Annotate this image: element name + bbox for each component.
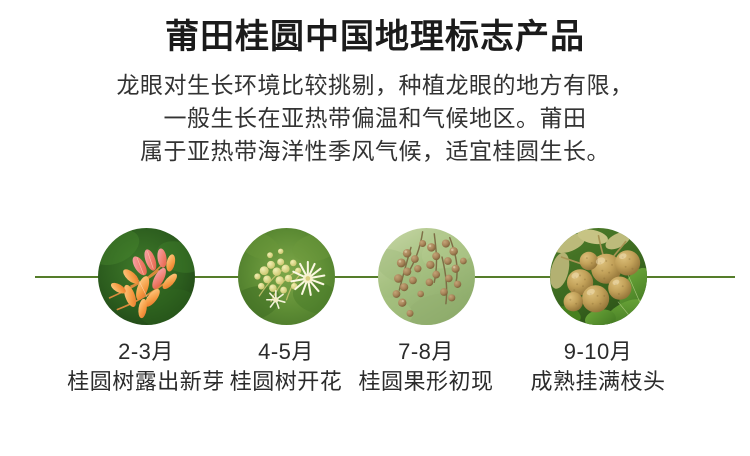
growth-stage-timeline: 2-3月 桂圆树露出新芽: [0, 218, 750, 418]
stage-description-label: 成熟挂满枝头: [498, 367, 698, 397]
stage-description-label: 桂圆果形初现: [326, 367, 526, 397]
longan-new-sprouts-photo: [98, 228, 195, 325]
intro-line-1: 龙眼对生长环境比较挑剔，种植龙眼的地方有限，: [0, 69, 750, 102]
longan-young-fruit-photo: [378, 228, 475, 325]
timeline-stage-3: 7-8月 桂圆果形初现: [326, 218, 526, 397]
intro-line-2: 一般生长在亚热带偏温和气候地区。莆田: [0, 102, 750, 135]
stage-month-label: 7-8月: [326, 337, 526, 367]
stage-caption: 7-8月 桂圆果形初现: [326, 337, 526, 397]
stage-month-label: 9-10月: [498, 337, 698, 367]
longan-blossom-photo: [238, 228, 335, 325]
stage-caption: 9-10月 成熟挂满枝头: [498, 337, 698, 397]
timeline-stage-4: 9-10月 成熟挂满枝头: [498, 218, 698, 397]
intro-paragraph: 龙眼对生长环境比较挑剔，种植龙眼的地方有限， 一般生长在亚热带偏温和气候地区。莆…: [0, 69, 750, 168]
product-info-banner: 莆田桂圆中国地理标志产品 龙眼对生长环境比较挑剔，种植龙眼的地方有限， 一般生长…: [0, 0, 750, 456]
longan-ripe-fruit-photo: [550, 228, 647, 325]
page-title: 莆田桂圆中国地理标志产品: [0, 15, 750, 59]
intro-line-3: 属于亚热带海洋性季风气候，适宜桂圆生长。: [0, 135, 750, 168]
header: 莆田桂圆中国地理标志产品 龙眼对生长环境比较挑剔，种植龙眼的地方有限， 一般生长…: [0, 0, 750, 168]
